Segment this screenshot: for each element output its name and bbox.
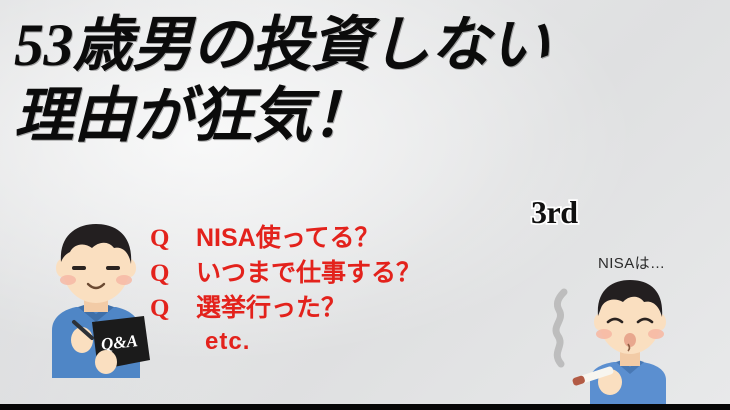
question-etc-label: etc. — [205, 328, 250, 355]
smoker-ear-left — [594, 314, 604, 330]
cigarette-smoke — [556, 292, 564, 364]
smoker-ear-right — [656, 314, 666, 330]
interviewer-illustration: Q&A — [34, 218, 158, 378]
question-row: Q NISA使ってる？ — [150, 218, 421, 253]
headline-line-2: 理由が狂気！ — [14, 80, 720, 152]
interviewer-ear-left — [56, 259, 68, 277]
smoker-mouth — [624, 333, 636, 347]
smoking-man-svg — [538, 272, 690, 410]
interviewer-svg: Q&A — [34, 218, 158, 378]
interviewer-hand-right — [95, 350, 117, 374]
interviewer-blush-right — [116, 275, 132, 285]
bottom-black-bar — [0, 404, 730, 410]
question-marker: Q — [150, 295, 196, 323]
interviewer-blush-left — [60, 275, 76, 285]
question-row: Q いつまで仕事する？ — [150, 253, 421, 288]
speech-text-nisa: NISAは… — [598, 252, 665, 273]
interviewer-eye-right — [106, 266, 120, 270]
smoking-man-illustration — [538, 272, 690, 410]
headline-line-1: 53歳男の投資しない — [14, 8, 720, 82]
youtube-thumbnail: 53歳男の投資しない 理由が狂気！ — [0, 0, 730, 410]
question-row: Q 選挙行った？ — [150, 288, 421, 323]
question-text: 選挙行った？ — [196, 288, 346, 324]
interviewer-ear-right — [124, 259, 136, 277]
question-marker: Q — [150, 260, 196, 288]
question-marker: Q — [150, 225, 196, 253]
interviewer-eye-left — [72, 266, 86, 270]
question-text: いつまで仕事する？ — [196, 253, 421, 289]
smoker-blush-right — [648, 329, 664, 339]
smoker-blush-left — [596, 329, 612, 339]
headline-block: 53歳男の投資しない 理由が狂気！ — [14, 8, 720, 152]
rank-badge-3rd: 3rd — [531, 196, 578, 228]
question-list: Q NISA使ってる？ Q いつまで仕事する？ Q 選挙行った？ etc. — [150, 218, 421, 356]
question-text: NISA使ってる？ — [196, 218, 379, 254]
question-etc-row: etc. — [150, 328, 421, 356]
